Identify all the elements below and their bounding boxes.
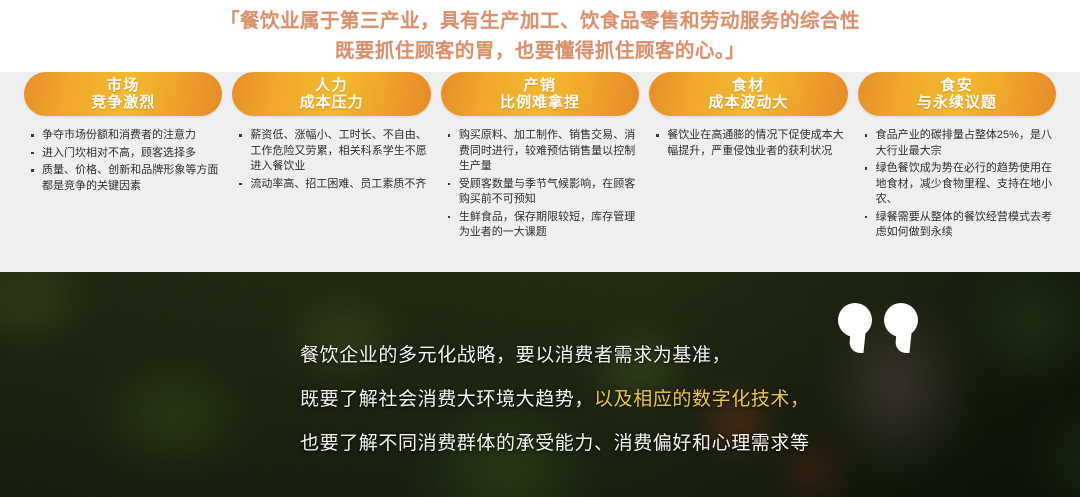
cards-row: 市场 竞争激烈 争夺市场份额和消费者的注意力 进入门坎相对不高，顾客选择多 质量… <box>0 72 1080 272</box>
quote-line-3: 也要了解不同消费群体的承受能力、消费偏好和心理需求等 <box>300 422 860 466</box>
card-bullet-list: 购买原料、加工制作、销售交易、消费同时进行，较难预估销售量以控制生产量 受顾客数… <box>441 128 639 241</box>
list-item: 餐饮业在高通膨的情况下促使成本大幅提升，严重侵蚀业者的获利状况 <box>653 128 843 159</box>
quote-line-2-plain: 既要了解社会消费大环境大趋势， <box>300 389 594 410</box>
list-item: 争夺市场份额和消费者的注意力 <box>28 128 218 144</box>
header-quote-line-1: 「餐饮业属于第三产业，具有生产加工、饮食品零售和劳动服务的综合性 <box>220 10 860 32</box>
cards-panel: 市场 竞争激烈 争夺市场份额和消费者的注意力 进入门坎相对不高，顾客选择多 质量… <box>0 72 1080 272</box>
card-title-line-1: 市场 <box>107 78 140 94</box>
card-title-line-1: 人力 <box>315 78 348 94</box>
infographic-page: 「餐饮业属于第三产业，具有生产加工、饮食品零售和劳动服务的综合性 既要抓住顾客的… <box>0 0 1080 497</box>
list-item: 流动率高、招工困难、员工素质不齐 <box>236 177 426 193</box>
card-title-pill: 人力 成本压力 <box>232 72 430 116</box>
card-labor-cost: 人力 成本压力 薪资低、涨幅小、工时长、不自由、工作危险又劳累，相关科系学生不愿… <box>232 72 430 272</box>
card-title-line-2: 与永续议题 <box>917 94 997 111</box>
list-item: 受顾客数量与季节气候影响，在顾客购买前不可预知 <box>445 177 635 208</box>
card-bullet-list: 餐饮业在高通膨的情况下促使成本大幅提升，严重侵蚀业者的获利状况 <box>649 128 847 159</box>
quote-glyph-right <box>884 303 920 355</box>
card-title-line-1: 食材 <box>732 78 765 94</box>
card-title-line-2: 竞争激烈 <box>91 94 155 111</box>
header-quote-line-2: 既要抓住顾客的胃，也要懂得抓住顾客的心。」 <box>160 36 920 66</box>
card-production-sales-ratio: 产销 比例难拿捏 购买原料、加工制作、销售交易、消费同时进行，较难预估销售量以控… <box>441 72 639 272</box>
quote-line-2: 既要了解社会消费大环境大趋势，以及相应的数字化技术， <box>300 378 860 422</box>
quote-line-1: 餐饮企业的多元化战略，要以消费者需求为基准， <box>300 334 860 378</box>
card-title-line-1: 产销 <box>524 78 557 94</box>
card-title-pill: 食安 与永续议题 <box>858 72 1056 116</box>
card-market-competition: 市场 竞争激烈 争夺市场份额和消费者的注意力 进入门坎相对不高，顾客选择多 质量… <box>24 72 222 272</box>
list-item: 绿色餐饮成为势在必行的趋势使用在地食材，减少食物里程、支持在地小农、 <box>862 161 1052 208</box>
bottom-quote-text: 餐饮企业的多元化战略，要以消费者需求为基准， 既要了解社会消费大环境大趋势，以及… <box>300 334 860 466</box>
list-item: 绿餐需要从整体的餐饮经营模式去考虑如何做到永续 <box>862 210 1052 241</box>
list-item: 食品产业的碳排量占整体25%，是八大行业最大宗 <box>862 128 1052 159</box>
card-title-pill: 产销 比例难拿捏 <box>441 72 639 116</box>
card-title-line-1: 食安 <box>940 78 973 94</box>
header-quote-band: 「餐饮业属于第三产业，具有生产加工、饮食品零售和劳动服务的综合性 既要抓住顾客的… <box>0 0 1080 72</box>
list-item: 购买原料、加工制作、销售交易、消费同时进行，较难预估销售量以控制生产量 <box>445 128 635 175</box>
card-ingredient-cost: 食材 成本波动大 餐饮业在高通膨的情况下促使成本大幅提升，严重侵蚀业者的获利状况 <box>649 72 847 272</box>
card-title-pill: 市场 竞争激烈 <box>24 72 222 116</box>
card-title-line-2: 成本压力 <box>300 94 364 111</box>
card-title-pill: 食材 成本波动大 <box>649 72 847 116</box>
header-quote-text: 「餐饮业属于第三产业，具有生产加工、饮食品零售和劳动服务的综合性 既要抓住顾客的… <box>160 6 920 66</box>
card-bullet-list: 食品产业的碳排量占整体25%，是八大行业最大宗 绿色餐饮成为势在必行的趋势使用在… <box>858 128 1056 241</box>
list-item: 质量、价格、创新和品牌形象等方面都是竞争的关键因素 <box>28 163 218 194</box>
quote-tail <box>894 323 912 353</box>
card-bullet-list: 薪资低、涨幅小、工时长、不自由、工作危险又劳累，相关科系学生不愿进入餐饮业 流动… <box>232 128 430 192</box>
list-item: 生鲜食品，保存期限较短，库存管理为业者的一大课题 <box>445 210 635 241</box>
card-title-line-2: 比例难拿捏 <box>500 94 580 111</box>
card-food-safety-sustainability: 食安 与永续议题 食品产业的碳排量占整体25%，是八大行业最大宗 绿色餐饮成为势… <box>858 72 1056 272</box>
list-item: 进入门坎相对不高，顾客选择多 <box>28 146 218 162</box>
card-title-line-2: 成本波动大 <box>708 94 788 111</box>
quote-line-2-highlight: 以及相应的数字化技术， <box>594 389 810 410</box>
card-bullet-list: 争夺市场份额和消费者的注意力 进入门坎相对不高，顾客选择多 质量、价格、创新和品… <box>24 128 222 194</box>
list-item: 薪资低、涨幅小、工时长、不自由、工作危险又劳累，相关科系学生不愿进入餐饮业 <box>236 128 426 175</box>
